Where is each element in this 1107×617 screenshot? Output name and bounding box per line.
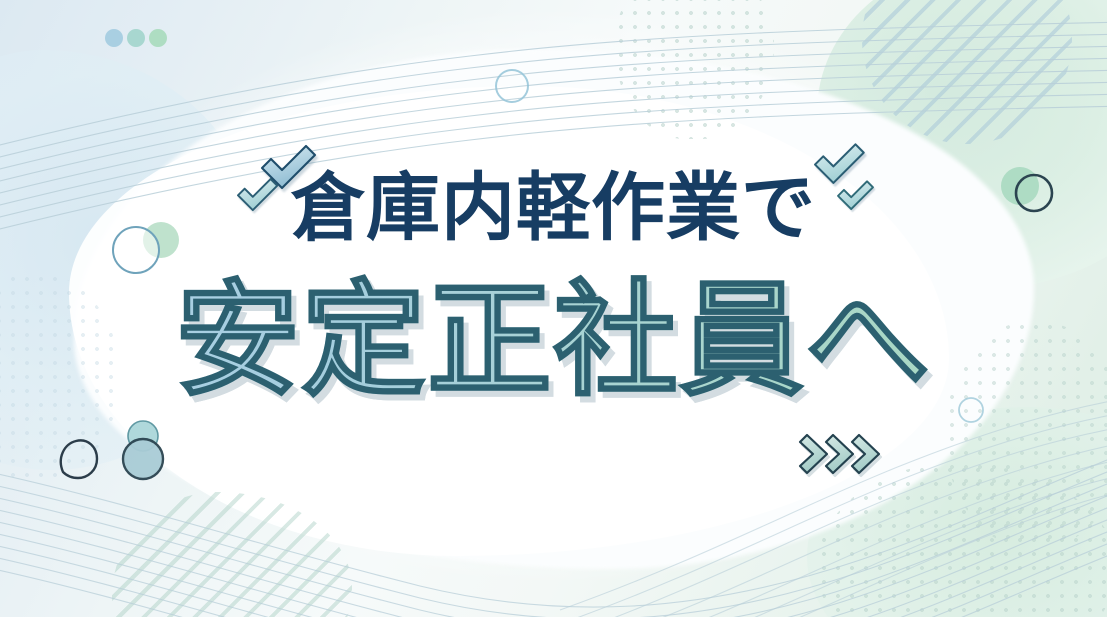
headline-line-2: 安定正社員へ [0, 279, 1107, 403]
headline-line-1: 倉庫内軽作業で [0, 171, 1107, 245]
headline-block: 倉庫内軽作業で 安定正社員へ 安定正社員へ [0, 0, 1107, 617]
poster-canvas: 倉庫内軽作業で 安定正社員へ 安定正社員へ [0, 0, 1107, 617]
